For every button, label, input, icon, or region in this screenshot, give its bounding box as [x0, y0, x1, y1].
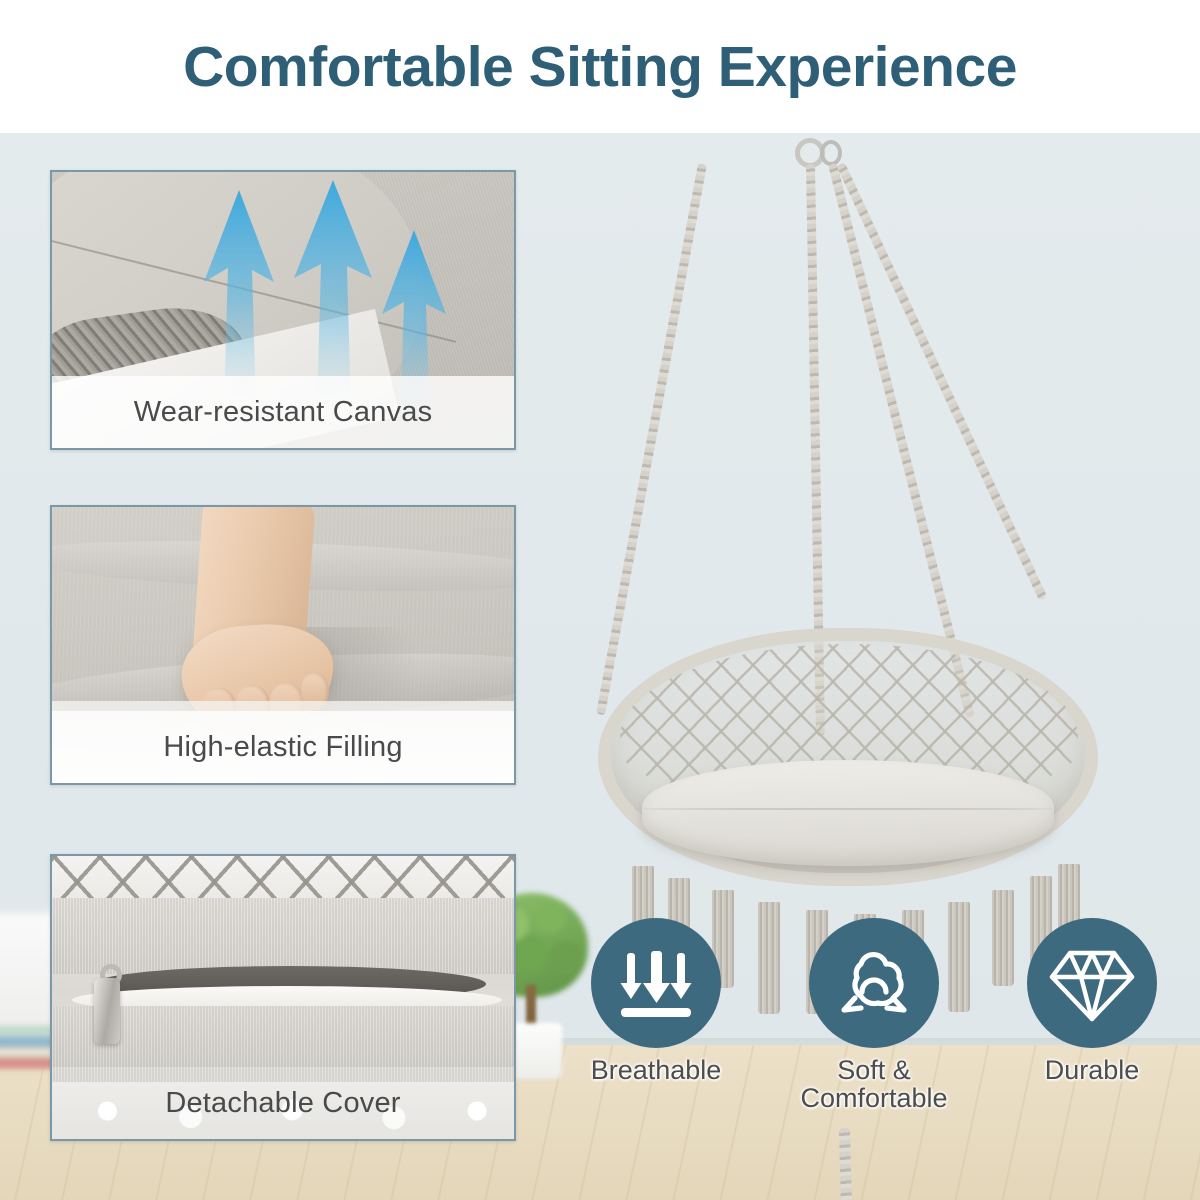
feature-panel-high-elastic-filling[interactable]: High-elastic Filling: [50, 505, 516, 785]
panel-caption-bar: High-elastic Filling: [52, 711, 514, 783]
product-infographic: Comfortable Sitting Experience: [0, 0, 1200, 1200]
zipper-pull-icon: [94, 978, 120, 1044]
badge-circle: [1027, 918, 1157, 1048]
chair-body: [590, 628, 1110, 918]
breathability-arrow-icon: [200, 190, 278, 405]
header-banner: Comfortable Sitting Experience: [0, 0, 1200, 133]
badge-soft-comfortable[interactable]: Soft & Comfortable: [774, 918, 974, 1112]
hanging-ring-secondary-icon: [820, 140, 842, 166]
badge-durable[interactable]: Durable: [992, 918, 1192, 1084]
cover-upper-band: [52, 898, 514, 974]
suspension-rope: [836, 162, 1047, 601]
cushion-seam: [642, 808, 1054, 810]
badge-breathable[interactable]: Breathable: [556, 918, 756, 1084]
diamond-icon: [1048, 939, 1136, 1027]
down-arrows-icon: [614, 941, 698, 1025]
badge-label: Soft & Comfortable: [774, 1056, 974, 1112]
feature-badges: Breathable Soft & Comfortable: [556, 918, 1192, 1146]
panel-caption-text: Wear-resistant Canvas: [134, 396, 433, 429]
hanging-chair-product: [590, 138, 1110, 908]
feature-panel-wear-resistant-canvas[interactable]: Wear-resistant Canvas: [50, 170, 516, 450]
seat-cushion: [642, 760, 1054, 866]
cotton-cloud-icon: [831, 940, 917, 1026]
panel-caption-text: High-elastic Filling: [163, 731, 402, 764]
badge-label: Durable: [992, 1056, 1192, 1084]
badge-circle: [809, 918, 939, 1048]
panel-caption-text: Detachable Cover: [165, 1087, 400, 1120]
panel-caption-bar: Wear-resistant Canvas: [52, 376, 514, 448]
feature-panel-detachable-cover[interactable]: Detachable Cover: [50, 854, 516, 1141]
badge-label: Breathable: [556, 1056, 756, 1084]
panel-caption-bar: Detachable Cover: [52, 1067, 514, 1139]
page-title: Comfortable Sitting Experience: [183, 34, 1017, 100]
badge-circle: [591, 918, 721, 1048]
